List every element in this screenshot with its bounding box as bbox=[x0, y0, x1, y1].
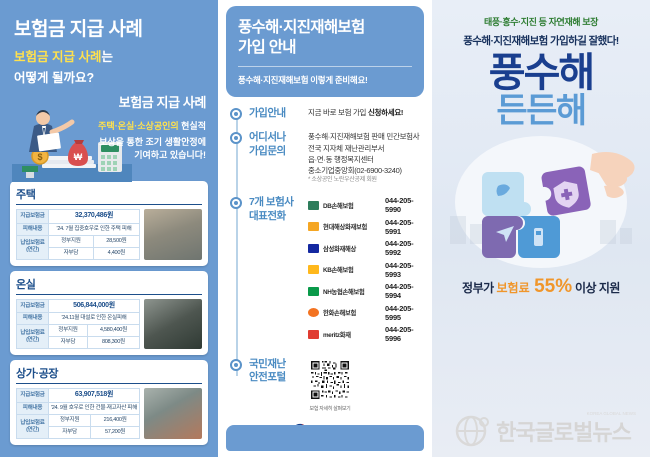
case-self-value: 808,300원 bbox=[87, 337, 139, 349]
section-label-insurers: 7개 보험사 대표전화 bbox=[249, 196, 301, 347]
svg-text:$: $ bbox=[37, 152, 42, 162]
section-join-text: 지금 바로 보험 가입 신청하세요! bbox=[308, 107, 403, 120]
label-line2: 가입문의 bbox=[249, 145, 301, 158]
subtitle-tail: 는 bbox=[101, 50, 113, 64]
right-eyebrow: 태풍·홍수·지진 등 자연재해 보장 bbox=[442, 12, 640, 30]
label-line2: 대표전화 bbox=[249, 210, 301, 223]
label-line2: 안전포털 bbox=[249, 371, 301, 384]
case-gov-label: 정부지원 bbox=[49, 325, 88, 337]
section-insurers: 7개 보험사 대표전화 DB손해보험 044-205-5990 현대해상화재보험… bbox=[230, 196, 424, 347]
case-photo-store bbox=[144, 388, 202, 439]
hyundai-marine-logo-icon bbox=[308, 222, 319, 231]
qr-caption: 보험 자세히 살펴보기 bbox=[310, 405, 351, 412]
section-safety-portal: 국민재난 안전포털 bbox=[230, 358, 424, 412]
bullet-icon bbox=[230, 132, 242, 144]
section-label-join: 가입안내 bbox=[249, 107, 301, 120]
case-name: 주택 bbox=[16, 186, 202, 205]
hero-line3: 기여하고 있습니다! bbox=[98, 149, 206, 162]
support-post: 이상 bbox=[572, 281, 599, 295]
insurer-name: DB손해보험 bbox=[323, 201, 381, 210]
hero-line2: 보상을 통한 조기 생활안정에 bbox=[98, 136, 206, 149]
support-percent: 55% bbox=[534, 276, 572, 297]
case-damage: '24. 9월 호우로 인한 건물·재고자산 피해 bbox=[49, 403, 140, 415]
where-line: 읍·면·동 행정복지센터 bbox=[308, 154, 419, 165]
insurer-phone[interactable]: 044-205-5995 bbox=[385, 304, 424, 322]
insurer-phone[interactable]: 044-205-5991 bbox=[385, 218, 424, 236]
row-label-payout: 지급보험금 bbox=[17, 210, 49, 224]
case-card-greenhouse: 온실 지급보험금 506,844,000원 피해내용 '24.11월 대설로 인… bbox=[10, 271, 208, 356]
section-label-where: 어디서나 가입문의 bbox=[249, 131, 301, 185]
insurer-row: 한화손해보험 044-205-5995 bbox=[308, 304, 424, 322]
case-damage: '24.11월 대설로 인한 온실피해 bbox=[49, 313, 140, 325]
case-table: 지급보험금 32,370,486원 피해내용 '24. 7월 집중호우로 인한 … bbox=[16, 209, 140, 260]
case-gov-value: 28,500원 bbox=[93, 235, 139, 247]
hanwha-insurance-logo-icon bbox=[308, 308, 319, 317]
guide-sections: 가입안내 지금 바로 보험 가입 신청하세요! 어디서나 가입문의 풍수해·지진… bbox=[226, 107, 424, 412]
case-self-value: 4,400원 bbox=[93, 247, 139, 259]
case-card-store-factory: 상가·공장 지급보험금 63,907,518원 피해내용 '24. 9월 호우로… bbox=[10, 360, 208, 445]
insurer-phone[interactable]: 044-205-5992 bbox=[385, 239, 424, 257]
section-where-list: 풍수해·지진재해보험 판매 민간보험사 전국 지자체 재난관리부서 읍·면·동 … bbox=[308, 131, 419, 185]
big-title-line2: 든든해 bbox=[442, 94, 640, 128]
case-gov-label: 정부지원 bbox=[49, 415, 91, 427]
insurer-row: DB손해보험 044-205-5990 bbox=[308, 196, 424, 214]
insurer-row: KB손해보험 044-205-5993 bbox=[308, 261, 424, 279]
insurer-row: 현대해상화재보험 044-205-5991 bbox=[308, 218, 424, 236]
where-note: * 소상공인 노란우산공제 회원 bbox=[308, 176, 419, 185]
hero-title-line1: 풍수해·지진재해보험 bbox=[238, 18, 412, 38]
case-gov-value: 216,400원 bbox=[91, 415, 140, 427]
watermark-text: 한국글로벌뉴스 bbox=[496, 415, 631, 447]
globe-icon bbox=[451, 411, 491, 451]
hero-tagline: 풍수해·지진재해보험 이렇게 준비해요! bbox=[238, 74, 412, 86]
left-hero-text: 보험금 지급 사례 주택·온실·소상공인의 현실적 보상을 통한 조기 생활안정… bbox=[98, 94, 206, 162]
eyebrow-green: 태풍·홍수·지진 bbox=[484, 17, 536, 27]
insurer-list: DB손해보험 044-205-5990 현대해상화재보험 044-205-599… bbox=[308, 196, 424, 347]
case-name: 온실 bbox=[16, 276, 202, 295]
big-title-line1: 풍수해 bbox=[442, 54, 640, 92]
right-headline: 풍수해·지진재해보험 가입하길 잘했다! bbox=[442, 33, 640, 48]
insurer-row: 삼성화재해상 044-205-5992 bbox=[308, 239, 424, 257]
insurer-phone[interactable]: 044-205-5993 bbox=[385, 261, 424, 279]
middle-bottom-bar bbox=[226, 425, 424, 451]
case-payout: 32,370,486원 bbox=[49, 210, 140, 224]
hero-divider bbox=[238, 66, 412, 67]
case-payout: 506,844,000원 bbox=[49, 299, 140, 313]
insurer-name: KB손해보험 bbox=[323, 265, 381, 274]
case-gov-label: 정부지원 bbox=[49, 235, 94, 247]
db-insurance-logo-icon bbox=[308, 201, 319, 210]
join-text-plain: 지금 바로 보험 가입 bbox=[308, 108, 368, 117]
hero-line1-highlight: 주택·온실·소상공인의 bbox=[98, 121, 179, 131]
row-label-damage: 피해내용 bbox=[17, 313, 49, 325]
section-join: 가입안내 지금 바로 보험 가입 신청하세요! bbox=[230, 107, 424, 120]
insurer-name: 현대해상화재보험 bbox=[323, 222, 381, 231]
support-tail: 지원 bbox=[599, 281, 620, 295]
case-name: 상가·공장 bbox=[16, 365, 202, 384]
case-gov-value: 4,580,400원 bbox=[87, 325, 139, 337]
puzzle-pieces-graphic bbox=[432, 124, 650, 274]
left-panel-title: 보험금 지급 사례 bbox=[14, 14, 208, 41]
left-hero: ₩ $ bbox=[10, 90, 208, 176]
insurer-phone[interactable]: 044-205-5996 bbox=[385, 325, 424, 343]
watermark: 한국글로벌뉴스 KOREA GLOBAL NEWS bbox=[432, 407, 650, 455]
right-panel-campaign: 태풍·홍수·지진 등 자연재해 보장 풍수해·지진재해보험 가입하길 잘했다! … bbox=[432, 0, 650, 457]
insurer-row: meritz화재 044-205-5996 bbox=[308, 325, 424, 343]
hero-head: 보험금 지급 사례 bbox=[98, 94, 206, 113]
hero-title-line2: 가입 안내 bbox=[238, 38, 412, 58]
left-panel-subtitle: 보험금 지급 사례는 bbox=[14, 47, 208, 67]
bullet-icon bbox=[230, 197, 242, 209]
right-top-text: 태풍·홍수·지진 등 자연재해 보장 풍수해·지진재해보험 가입하길 잘했다! … bbox=[432, 0, 650, 128]
section-where-to-join: 어디서나 가입문의 풍수해·지진재해보험 판매 민간보험사 전국 지자체 재난관… bbox=[230, 131, 424, 185]
watermark-subtext: KOREA GLOBAL NEWS bbox=[587, 411, 636, 416]
case-self-label: 자부담 bbox=[49, 427, 91, 439]
middle-panel-join-guide: 풍수해·지진재해보험 가입 안내 풍수해·지진재해보험 이렇게 준비해요! 가입… bbox=[218, 0, 432, 457]
insurer-name: 한화손해보험 bbox=[323, 308, 381, 317]
kb-insurance-logo-icon bbox=[308, 265, 319, 274]
row-label-premium: 납입보험료(연간) bbox=[17, 415, 49, 439]
insurer-name: meritz화재 bbox=[323, 330, 381, 339]
row-label-damage: 피해내용 bbox=[17, 403, 49, 415]
section-label-portal: 국민재난 안전포털 bbox=[249, 358, 301, 412]
support-premium-word: 보험료 bbox=[497, 281, 530, 295]
case-self-value: 57,200원 bbox=[91, 427, 140, 439]
insurer-name: NH농협손해보험 bbox=[323, 287, 381, 296]
label-line1: 어디서나 bbox=[249, 131, 301, 144]
case-self-label: 자부담 bbox=[49, 337, 88, 349]
government-support-line: 정부가 보험료 55% 이상 지원 bbox=[432, 276, 650, 298]
bullet-icon bbox=[230, 359, 242, 371]
middle-hero-card: 풍수해·지진재해보험 가입 안내 풍수해·지진재해보험 이렇게 준비해요! bbox=[226, 6, 424, 97]
case-photo-house bbox=[144, 209, 202, 260]
where-line: 중소기업중앙회(02-6900-3240) bbox=[308, 165, 419, 176]
brochure-page: 보험금 지급 사례 보험금 지급 사례는 어떻게 될까요? ₩ $ bbox=[0, 0, 650, 457]
case-card-house: 주택 지급보험금 32,370,486원 피해내용 '24. 7월 집중호우로 … bbox=[10, 181, 208, 266]
nh-nonghyup-logo-icon bbox=[308, 287, 319, 296]
insurer-name: 삼성화재해상 bbox=[323, 244, 381, 253]
case-damage: '24. 7월 집중호우로 인한 주택 피해 bbox=[49, 223, 140, 235]
bullet-icon bbox=[230, 108, 242, 120]
subtitle-highlight: 보험금 지급 사례 bbox=[14, 50, 101, 64]
case-photo-greenhouse bbox=[144, 299, 202, 350]
qr-block: 보험 자세히 살펴보기 bbox=[308, 358, 352, 412]
join-text-bold: 신청하세요! bbox=[368, 108, 403, 117]
row-label-premium: 납입보험료(연간) bbox=[17, 235, 49, 259]
support-pre: 정부가 bbox=[462, 281, 496, 295]
where-line: 풍수해·지진재해보험 판매 민간보험사 bbox=[308, 131, 419, 142]
svg-text:₩: ₩ bbox=[74, 152, 83, 162]
puzzle-illustration bbox=[432, 124, 650, 274]
label-line1: 7개 보험사 bbox=[249, 196, 301, 209]
label-line1: 국민재난 bbox=[249, 358, 301, 371]
left-panel-payout-cases: 보험금 지급 사례 보험금 지급 사례는 어떻게 될까요? ₩ $ bbox=[0, 0, 218, 457]
insurer-phone[interactable]: 044-205-5990 bbox=[385, 196, 424, 214]
case-table: 지급보험금 63,907,518원 피해내용 '24. 9월 호우로 인한 건물… bbox=[16, 388, 140, 439]
case-payout: 63,907,518원 bbox=[49, 389, 140, 403]
row-label-payout: 지급보험금 bbox=[17, 389, 49, 403]
meritz-fire-logo-icon bbox=[308, 330, 319, 339]
samsung-fire-logo-icon bbox=[308, 244, 319, 253]
where-line: 전국 지자체 재난관리부서 bbox=[308, 143, 419, 154]
row-label-premium: 납입보험료(연간) bbox=[17, 325, 49, 349]
subtitle-line2: 어떻게 될까요? bbox=[14, 67, 208, 86]
case-self-label: 자부담 bbox=[49, 247, 94, 259]
eyebrow-dark: 등 자연재해 보장 bbox=[537, 17, 598, 27]
hero-line1-tail: 현실적 bbox=[179, 121, 206, 131]
insurer-phone[interactable]: 044-205-5994 bbox=[385, 282, 424, 300]
qr-code-icon[interactable] bbox=[308, 358, 352, 402]
row-label-payout: 지급보험금 bbox=[17, 299, 49, 313]
case-table: 지급보험금 506,844,000원 피해내용 '24.11월 대설로 인한 온… bbox=[16, 299, 140, 350]
row-label-damage: 피해내용 bbox=[17, 223, 49, 235]
insurer-row: NH농협손해보험 044-205-5994 bbox=[308, 282, 424, 300]
